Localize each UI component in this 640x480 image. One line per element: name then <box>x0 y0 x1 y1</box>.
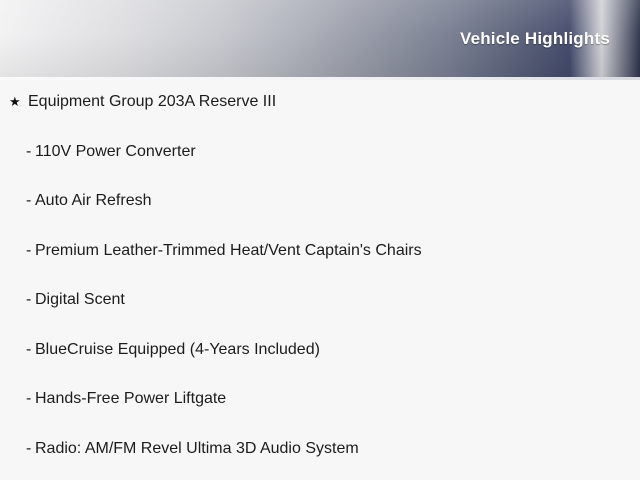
list-item-label: Hands-Free Power Liftgate <box>35 389 226 409</box>
dash-bullet-icon: - <box>26 290 35 310</box>
list-item-label: Digital Scent <box>35 290 125 310</box>
list-item: -110V Power Converter <box>0 142 640 192</box>
vehicle-highlights-panel: Vehicle Highlights ★Equipment Group 203A… <box>0 0 640 480</box>
list-item: -Digital Scent <box>0 290 640 340</box>
dash-bullet-icon: - <box>26 340 35 360</box>
list-item-label: 110V Power Converter <box>35 142 196 162</box>
header-banner: Vehicle Highlights <box>0 0 640 77</box>
dash-bullet-icon: - <box>26 389 35 409</box>
dash-bullet-icon: - <box>26 191 35 211</box>
page-title: Vehicle Highlights <box>460 29 610 49</box>
list-item: -Hands-Free Power Liftgate <box>0 389 640 439</box>
list-item-label: Equipment Group 203A Reserve III <box>28 92 276 112</box>
list-item-label: Radio: AM/FM Revel Ultima 3D Audio Syste… <box>35 439 359 459</box>
list-item-label: Auto Air Refresh <box>35 191 152 211</box>
star-bullet-icon: ★ <box>9 92 28 112</box>
list-item: -BlueCruise Equipped (4-Years Included) <box>0 340 640 390</box>
list-item: -Radio: AM/FM Revel Ultima 3D Audio Syst… <box>0 439 640 480</box>
list-item-label: BlueCruise Equipped (4-Years Included) <box>35 340 320 360</box>
list-item-label: Premium Leather-Trimmed Heat/Vent Captai… <box>35 241 422 261</box>
dash-bullet-icon: - <box>26 142 35 162</box>
list-item: -Premium Leather-Trimmed Heat/Vent Capta… <box>0 241 640 291</box>
list-item: ★Equipment Group 203A Reserve III <box>0 92 640 142</box>
highlights-list: ★Equipment Group 203A Reserve III-110V P… <box>0 80 640 480</box>
dash-bullet-icon: - <box>26 241 35 261</box>
dash-bullet-icon: - <box>26 439 35 459</box>
list-item: -Auto Air Refresh <box>0 191 640 241</box>
